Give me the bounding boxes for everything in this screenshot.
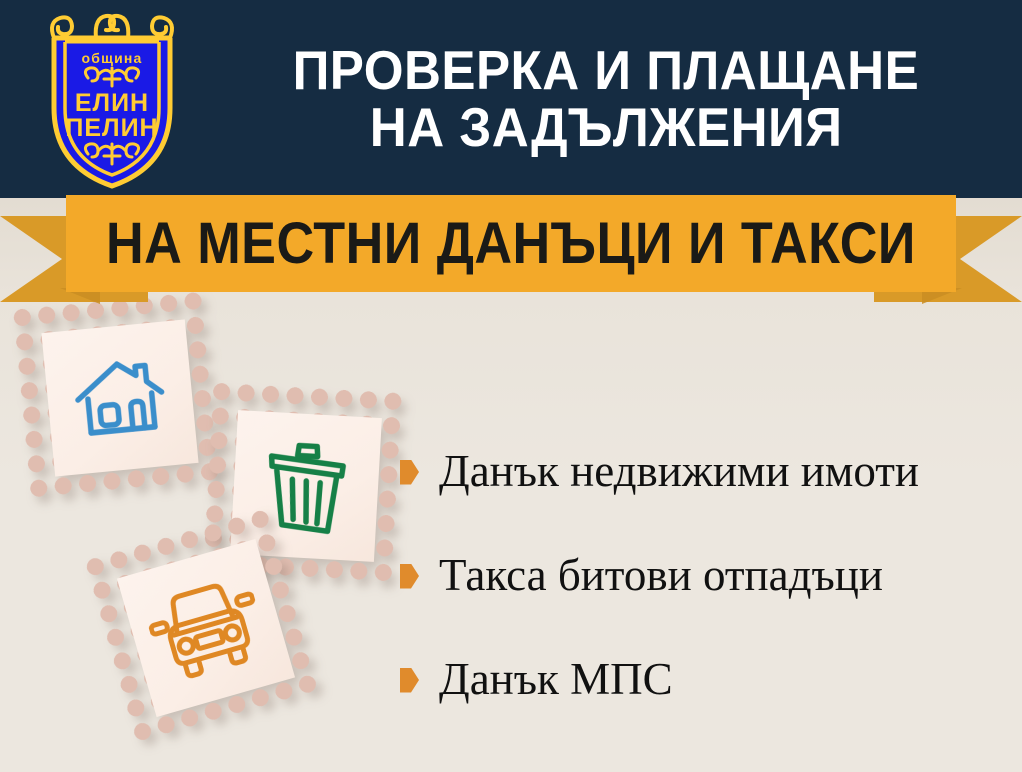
car-icon — [139, 565, 272, 691]
page-title: ПРОВЕРКА И ПЛАЩАНЕ НА ЗАДЪЛЖЕНИЯ — [190, 0, 1022, 198]
tax-type-list: Данък недвижими имоти Такса битови отпад… — [400, 420, 1022, 732]
arrow-bullet-icon — [400, 460, 419, 485]
coat-of-arms-icon: община ЕЛИН ПЕЛИН — [38, 8, 186, 190]
list-item-label: Такса битови отпадъци — [439, 552, 883, 599]
list-item-label: Данък МПС — [439, 656, 673, 703]
stamp-paper — [41, 319, 198, 476]
house-icon — [63, 341, 176, 454]
arrow-bullet-icon — [400, 668, 419, 693]
subtitle-ribbon: НА МЕСТНИ ДАНЪЦИ И ТАКСИ — [0, 195, 1022, 307]
list-item[interactable]: Такса битови отпадъци — [400, 524, 1022, 628]
list-item[interactable]: Данък недвижими имоти — [400, 420, 1022, 524]
arrow-bullet-icon — [400, 564, 419, 589]
list-item[interactable]: Данък МПС — [400, 628, 1022, 732]
ribbon-panel: НА МЕСТНИ ДАНЪЦИ И ТАКСИ — [66, 195, 956, 292]
ribbon-label: НА МЕСТНИ ДАНЪЦИ И ТАКСИ — [106, 215, 916, 273]
stamp-collage — [0, 290, 420, 772]
title-line-1: ПРОВЕРКА И ПЛАЩАНЕ — [293, 43, 920, 98]
title-line-2: НА ЗАДЪЛЖЕНИЯ — [370, 100, 843, 155]
logo-main-label-1: ЕЛИН — [75, 89, 149, 117]
logo-top-label: община — [81, 50, 142, 66]
stamp-property-tax — [13, 291, 227, 505]
poster-canvas: община ЕЛИН ПЕЛИН ПРОВЕРКА И П — [0, 0, 1022, 772]
list-item-label: Данък недвижими имоти — [439, 448, 919, 495]
logo-main-label-2: ПЕЛИН — [65, 114, 158, 142]
municipality-logo: община ЕЛИН ПЕЛИН — [38, 8, 186, 190]
